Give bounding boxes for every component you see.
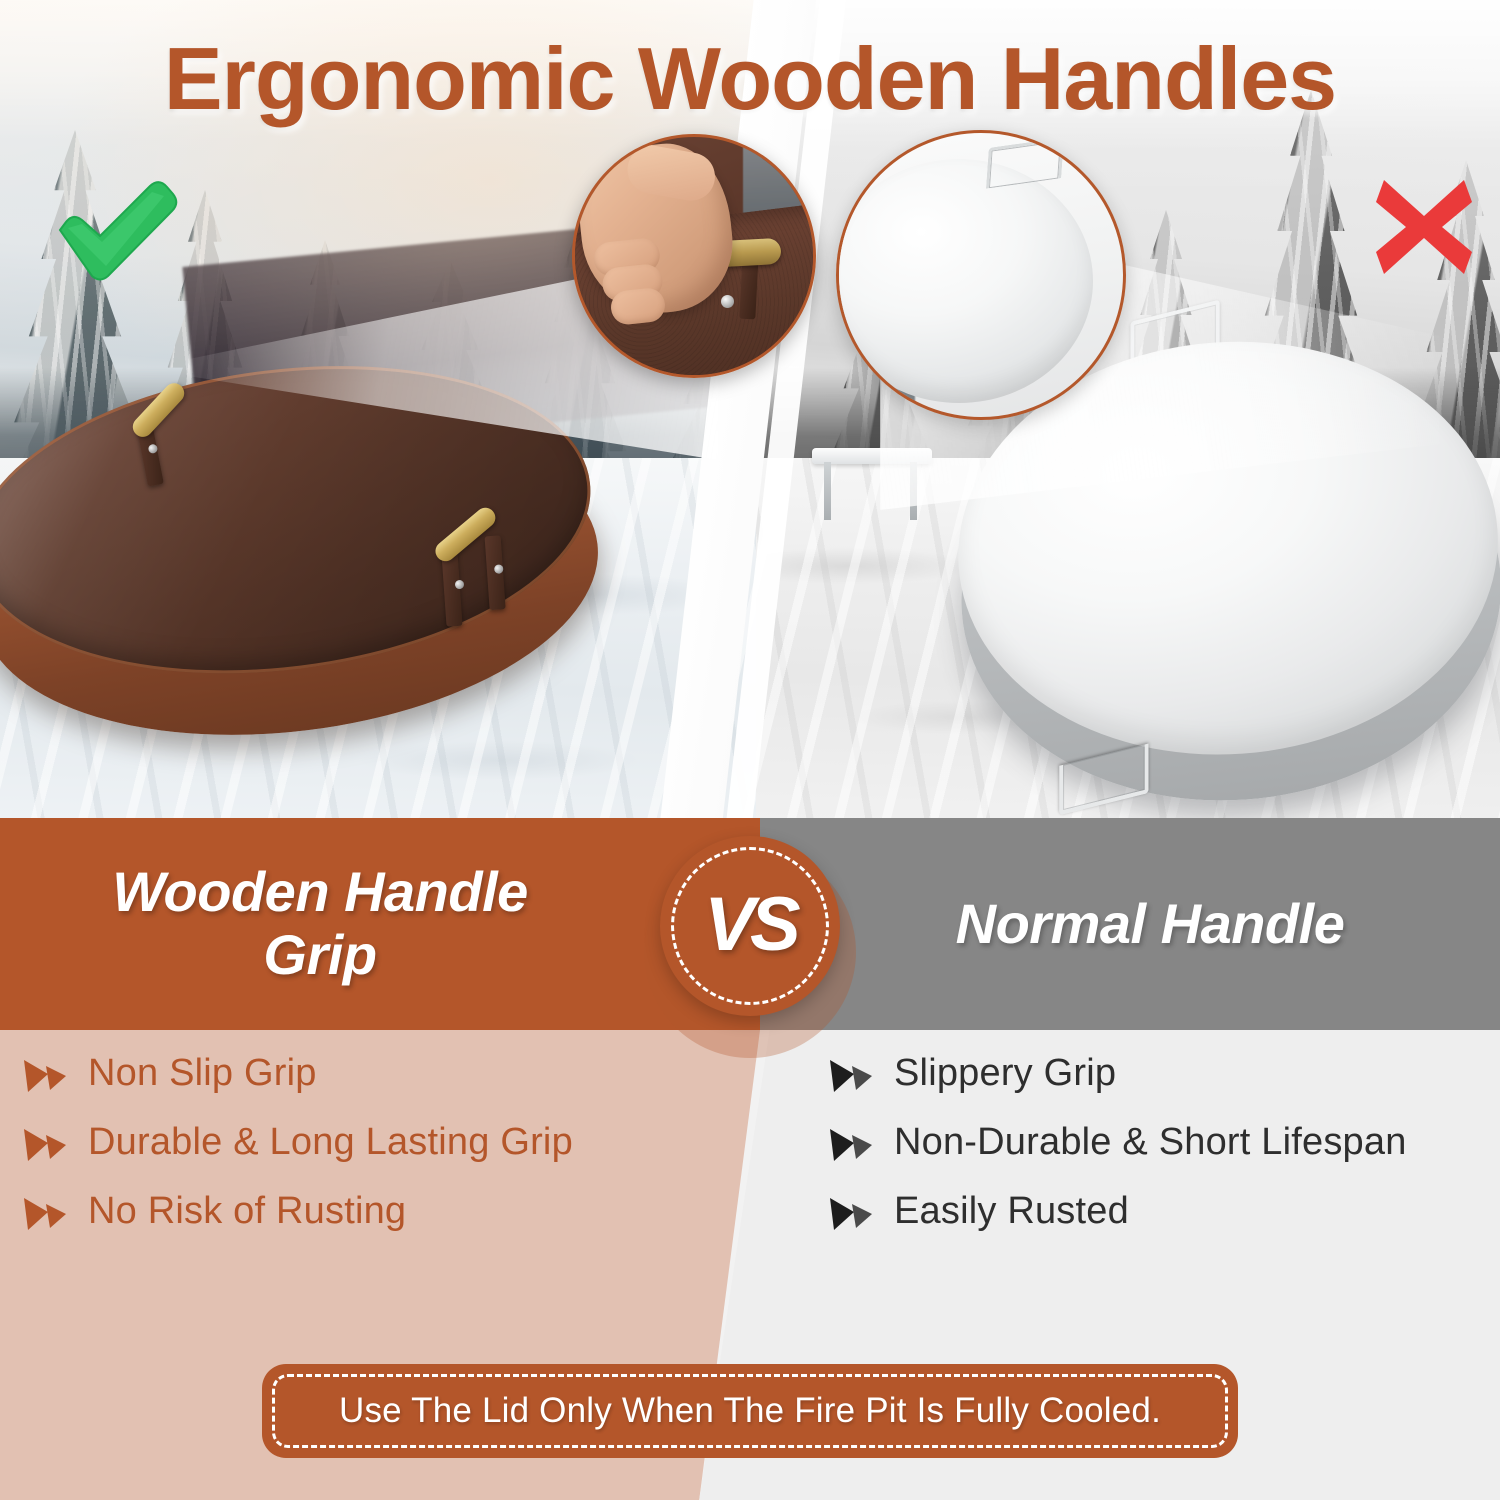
list-item-label: Non-Durable & Short Lifespan bbox=[894, 1119, 1407, 1166]
page-title: Ergonomic Wooden Handles bbox=[0, 28, 1500, 130]
list-item: No Risk of Rusting bbox=[22, 1188, 622, 1235]
list-item: Durable & Long Lasting Grip bbox=[22, 1119, 622, 1166]
list-item: Easily Rusted bbox=[828, 1188, 1428, 1235]
right-column-header: Normal Handle bbox=[760, 818, 1500, 1030]
safety-notice-banner: Use The Lid Only When The Fire Pit Is Fu… bbox=[262, 1364, 1238, 1458]
left-column-title: Wooden Handle Grip bbox=[112, 861, 648, 986]
list-item: Non-Durable & Short Lifespan bbox=[828, 1119, 1428, 1166]
chevron-bullet-icon bbox=[22, 1125, 70, 1165]
left-column-header: Wooden Handle Grip bbox=[0, 818, 760, 1030]
list-item: Slippery Grip bbox=[828, 1050, 1428, 1097]
chevron-bullet-icon bbox=[828, 1194, 876, 1234]
hand-gripping-wooden-handle-inset bbox=[572, 134, 816, 378]
chevron-bullet-icon bbox=[828, 1125, 876, 1165]
left-column-title-line1: Wooden Handle bbox=[112, 861, 528, 924]
list-item-label: No Risk of Rusting bbox=[88, 1188, 406, 1235]
metal-wire-handle-inset bbox=[836, 130, 1126, 420]
list-item-label: Durable & Long Lasting Grip bbox=[88, 1119, 573, 1166]
list-item-label: Easily Rusted bbox=[894, 1188, 1129, 1235]
check-mark-icon bbox=[46, 172, 182, 282]
chevron-bullet-icon bbox=[22, 1056, 70, 1096]
chevron-bullet-icon bbox=[22, 1194, 70, 1234]
safety-notice-text: Use The Lid Only When The Fire Pit Is Fu… bbox=[339, 1391, 1161, 1431]
x-mark-icon bbox=[1372, 176, 1476, 278]
vs-label: VS bbox=[704, 881, 795, 968]
list-item: Non Slip Grip bbox=[22, 1050, 622, 1097]
right-feature-list: Slippery Grip Non-Durable & Short Lifesp… bbox=[828, 1050, 1428, 1257]
left-column-title-line2: Grip bbox=[112, 924, 528, 987]
list-item-label: Non Slip Grip bbox=[88, 1050, 317, 1097]
left-feature-list: Non Slip Grip Durable & Long Lasting Gri… bbox=[22, 1050, 622, 1257]
product-comparison-infographic: Ergonomic Wooden Handles Wooden Handle G… bbox=[0, 0, 1500, 1500]
list-item-label: Slippery Grip bbox=[894, 1050, 1116, 1097]
right-column-title: Normal Handle bbox=[916, 893, 1345, 956]
vs-badge: VS bbox=[660, 836, 840, 1016]
chevron-bullet-icon bbox=[828, 1056, 876, 1096]
